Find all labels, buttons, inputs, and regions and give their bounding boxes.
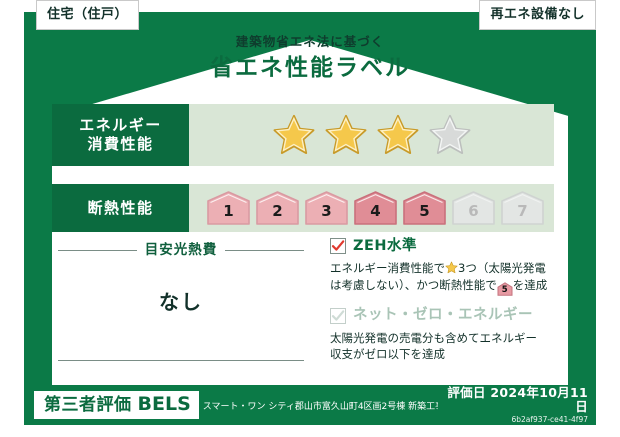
tag-renewable-equipment: 再エネ設備なし [479,0,596,30]
insulation-level-6: 6 [451,190,496,226]
insulation-level-4: 4 [353,190,398,226]
zeh-desc-part2: は考慮しない）、かつ断熱性能で [330,278,497,292]
star-empty-icon [427,113,473,157]
insulation-level-number: 5 [419,204,429,226]
utility-cost-box: 目安光熱費 なし [52,240,310,365]
insulation-level-2: 2 [255,190,300,226]
zeh-desc-part3: を達成 [513,278,548,292]
checkbox-checked-icon[interactable] [330,238,346,254]
criteria-list: ZEH水準 エネルギー消費性能で 3つ（太陽光発電 は考慮しない）、かつ断熱性能… [330,238,554,369]
nze-desc-line1: 太陽光発電の売電分も含めてエネルギー [330,331,537,345]
energy-performance-row: エネルギー 消費性能 [52,104,554,166]
inline-house-level: 5 [497,282,513,299]
insulation-level-3: 3 [304,190,349,226]
utility-cost-title: 目安光熱費 [145,244,218,258]
star-rating [189,104,554,166]
nze-desc-line2: 収支がゼロ以下を達成 [330,347,445,361]
energy-performance-label: 住宅（住戸） 再エネ設備なし 建築物省エネ法に基づく 省エネ性能ラベル エネルギ… [0,0,620,437]
criterion-nze-title: ネット・ゼロ・エネルギー [353,308,533,323]
criterion-zeh-header: ZEH水準 [330,238,554,254]
bels-badge: 第三者評価 BELS [34,391,199,419]
insulation-level-number: 4 [370,204,380,226]
third-party-label: 第三者評価 [44,397,132,414]
star-filled-icon [271,113,317,157]
criterion-zeh-description: エネルギー消費性能で 3つ（太陽光発電 は考慮しない）、かつ断熱性能で 5 を達… [330,260,554,296]
criterion-net-zero-energy: ネット・ゼロ・エネルギー 太陽光発電の売電分も含めてエネルギー 収支がゼロ以下を… [330,308,554,363]
project-name: スマート・ワン シティ郡山市富久山町4区画2号棟 新築工事 [203,399,439,412]
insulation-level-7: 7 [500,190,545,226]
inline-star-icon [445,261,458,274]
zeh-desc-part1: エネルギー消費性能で [330,261,445,275]
zeh-desc-star-count: 3つ（太陽光発電 [458,261,546,275]
energy-performance-label-line1: エネルギー [79,116,162,135]
criterion-nze-description: 太陽光発電の売電分も含めてエネルギー 収支がゼロ以下を達成 [330,330,554,363]
evaluation-date: 評価日 2024年10月11日 [438,386,588,414]
criterion-nze-header: ネット・ゼロ・エネルギー [330,308,554,324]
insulation-level-number: 1 [223,204,233,226]
bels-label: BELS [138,395,191,414]
insulation-level-number: 3 [321,204,331,226]
star-filled-icon [323,113,369,157]
inline-house-icon: 5 [497,282,513,296]
criterion-zeh: ZEH水準 エネルギー消費性能で 3つ（太陽光発電 は考慮しない）、かつ断熱性能… [330,238,554,296]
criterion-zeh-title: ZEH水準 [353,239,417,254]
rule-left [58,250,137,251]
insulation-level-5: 5 [402,190,447,226]
utility-cost-bottom-rule [58,360,304,361]
insulation-level-number: 7 [517,204,527,226]
insulation-level-number: 6 [468,204,478,226]
energy-performance-label: エネルギー 消費性能 [52,104,189,166]
evaluation-info: 評価日 2024年10月11日 6b2af937-ce41-4f97 [438,386,596,425]
rule-right [225,250,304,251]
insulation-level-number: 2 [272,204,282,226]
checkbox-unchecked-icon[interactable] [330,308,346,324]
evaluation-id: 6b2af937-ce41-4f97 [438,415,588,424]
energy-performance-label-line2: 消費性能 [87,135,153,154]
insulation-level-1: 1 [206,190,251,226]
insulation-performance-row: 断熱性能 1234567 [52,184,554,232]
insulation-performance-label-text: 断熱性能 [87,199,153,218]
footer-bar: 第三者評価 BELS スマート・ワン シティ郡山市富久山町4区画2号棟 新築工事… [24,385,596,425]
tag-building-type: 住宅（住戸） [36,0,139,30]
star-filled-icon [375,113,421,157]
utility-cost-value: なし [52,286,310,315]
utility-cost-header: 目安光熱費 [52,244,310,258]
insulation-performance-label: 断熱性能 [52,184,189,232]
insulation-level-scale: 1234567 [189,184,554,232]
